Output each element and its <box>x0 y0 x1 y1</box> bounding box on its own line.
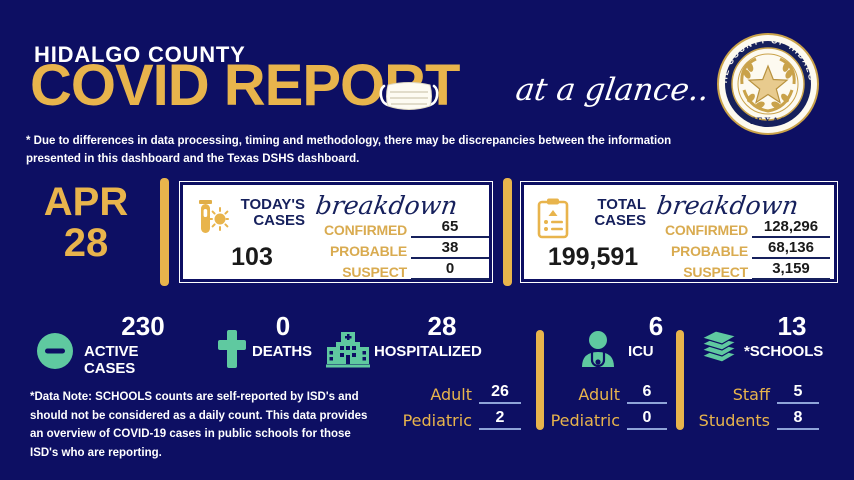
sub-label: Adult <box>548 385 620 404</box>
sub-value: 26 <box>479 383 521 404</box>
hidalgo-county-seal: THE COUNTY OF HIDALGO TEXAS <box>716 32 820 136</box>
divider-hospitalized <box>536 330 544 430</box>
breakdown-value: 3,159 <box>752 260 830 280</box>
sub-label: Adult <box>398 385 472 404</box>
sub-value: 8 <box>777 409 819 430</box>
breakdown-value: 68,136 <box>752 239 830 259</box>
hospital-icon <box>326 330 370 368</box>
tagline: at a glance.. <box>513 72 711 108</box>
sub-row: Students 8 <box>694 404 828 430</box>
data-note-text: *Data Note: SCHOOLS counts are self-repo… <box>30 388 380 463</box>
breakdown-label: CONFIRMED <box>652 222 748 238</box>
sub-row: Pediatric 2 <box>398 404 526 430</box>
total-breakdown-rows: CONFIRMED 128,296 PROBABLE 68,136 SUSPEC… <box>652 217 830 280</box>
todays-breakdown-title: breakdown <box>314 191 459 220</box>
todays-cases-label: TODAY'S CASES <box>233 197 305 228</box>
disclaimer-text: * Due to differences in data processing,… <box>26 133 686 169</box>
breakdown-row: PROBABLE 38 <box>311 238 489 259</box>
sub-row: Adult 6 <box>548 378 672 404</box>
breakdown-row: SUSPECT 3,159 <box>652 259 830 280</box>
divider-date <box>160 178 169 286</box>
deaths-label: DEATHS <box>252 343 312 360</box>
minus-circle-icon <box>36 332 74 370</box>
sub-row: Pediatric 0 <box>548 404 672 430</box>
icu-label: ICU <box>628 343 654 360</box>
sub-value: 0 <box>627 409 667 430</box>
schools-breakdown: Staff 5 Students 8 <box>694 378 828 430</box>
todays-cases-card: TODAY'S CASES 103 breakdown CONFIRMED 65… <box>180 182 492 282</box>
todays-cases-value: 103 <box>193 243 311 272</box>
icu-value: 6 <box>616 311 696 342</box>
breakdown-label: SUSPECT <box>311 264 407 280</box>
breakdown-value: 65 <box>411 218 489 238</box>
sub-value: 6 <box>627 383 667 404</box>
hospitalized-label: HOSPITALIZED <box>374 343 482 360</box>
breakdown-row: CONFIRMED 128,296 <box>652 217 830 238</box>
sub-row: Adult 26 <box>398 378 526 404</box>
divider-cards <box>503 178 512 286</box>
active-cases-label: ACTIVE CASES <box>84 343 138 377</box>
breakdown-value: 128,296 <box>752 218 830 238</box>
doctor-icon <box>578 330 618 368</box>
sub-label: Students <box>694 411 770 430</box>
cross-icon <box>216 328 248 370</box>
total-cases-card: TOTAL CASES 199,591 breakdown CONFIRMED … <box>521 182 837 282</box>
hospitalized-value: 28 <box>372 311 512 342</box>
books-icon <box>696 328 742 368</box>
report-month: APR <box>26 182 146 223</box>
report-day: 28 <box>26 223 146 264</box>
report-date: APR 28 <box>26 182 146 264</box>
covid-report-infographic: HIDALGO COUNTY COVID REPORT at a glance.… <box>0 0 854 480</box>
sub-label: Staff <box>694 385 770 404</box>
hospitalized-breakdown: Adult 26 Pediatric 2 <box>398 378 526 430</box>
seal-bottom-text: TEXAS <box>749 116 787 126</box>
breakdown-row: SUSPECT 0 <box>311 259 489 280</box>
breakdown-row: CONFIRMED 65 <box>311 217 489 238</box>
test-tube-virus-icon <box>195 197 229 239</box>
breakdown-value: 38 <box>411 239 489 259</box>
sub-row: Staff 5 <box>694 378 828 404</box>
total-breakdown-title: breakdown <box>655 191 800 220</box>
breakdown-label: PROBABLE <box>311 243 407 259</box>
total-cases-value: 199,591 <box>534 243 652 272</box>
active-cases-value: 230 <box>88 311 198 342</box>
breakdown-label: SUSPECT <box>652 264 748 280</box>
divider-icu <box>676 330 684 430</box>
total-cases-label: TOTAL CASES <box>574 197 646 228</box>
todays-breakdown-rows: CONFIRMED 65 PROBABLE 38 SUSPECT 0 <box>311 217 489 280</box>
sub-value: 2 <box>479 409 521 430</box>
clipboard-icon <box>536 197 570 239</box>
breakdown-label: PROBABLE <box>652 243 748 259</box>
breakdown-value: 0 <box>411 260 489 280</box>
breakdown-label: CONFIRMED <box>311 222 407 238</box>
face-mask-icon <box>378 72 440 118</box>
schools-value: 13 <box>742 311 842 342</box>
icu-breakdown: Adult 6 Pediatric 0 <box>548 378 672 430</box>
sub-value: 5 <box>777 383 819 404</box>
sub-label: Pediatric <box>398 411 472 430</box>
schools-label: *SCHOOLS <box>744 343 823 360</box>
deaths-value: 0 <box>250 311 316 342</box>
sub-label: Pediatric <box>548 411 620 430</box>
breakdown-row: PROBABLE 68,136 <box>652 238 830 259</box>
